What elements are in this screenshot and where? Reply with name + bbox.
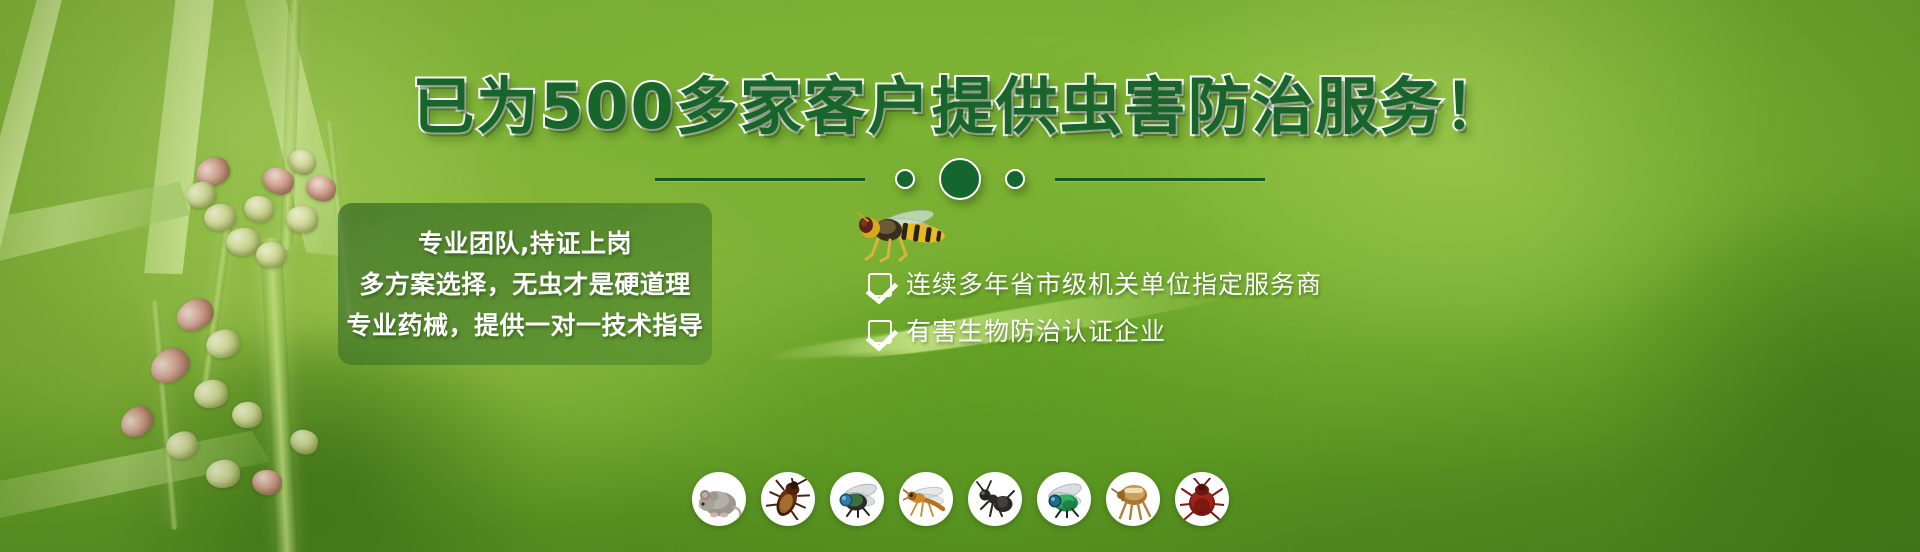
mouse-icon[interactable] [692,472,746,526]
divider-line-right [1055,178,1265,181]
greenbottle-fly-icon[interactable] [1037,472,1091,526]
checklist-item: 有害生物防治认证企业 [868,319,1322,344]
fly-icon[interactable] [830,472,884,526]
small-dot-left [895,169,915,189]
page-title: 已为500多家客户提供虫害防治服务！ [0,76,1920,138]
checklist-item-label: 连续多年省市级机关单位指定服务商 [906,272,1322,297]
feature-line-3: 专业药械，提供一对一技术指导 [346,313,703,338]
divider-dots [895,158,1025,200]
small-dot-right [1005,169,1025,189]
flea-icon[interactable] [1106,472,1160,526]
checkbox-checked-icon [868,273,892,297]
cockroach-icon[interactable] [761,472,815,526]
ant-icon[interactable] [968,472,1022,526]
checklist-item-label: 有害生物防治认证企业 [906,319,1166,344]
feature-line-1: 专业团队,持证上岗 [418,231,632,256]
mosquito-icon[interactable] [899,472,953,526]
checkbox-checked-icon [868,320,892,344]
pest-control-hero-banner: 已为500多家客户提供虫害防治服务！ 专业团队,持证上岗 多方案选择，无虫才是硬… [0,0,1920,552]
divider-line-left [655,178,865,181]
large-dot-center [939,158,981,200]
pest-icon-row [0,472,1920,526]
credentials-checklist: 连续多年省市级机关单位指定服务商 有害生物防治认证企业 [868,272,1322,344]
divider [0,158,1920,200]
feature-line-2: 多方案选择，无虫才是硬道理 [359,272,691,297]
checklist-item: 连续多年省市级机关单位指定服务商 [868,272,1322,297]
feature-panel-text: 专业团队,持证上岗 多方案选择，无虫才是硬道理 专业药械，提供一对一技术指导 [338,203,712,365]
bedbug-icon[interactable] [1175,472,1229,526]
